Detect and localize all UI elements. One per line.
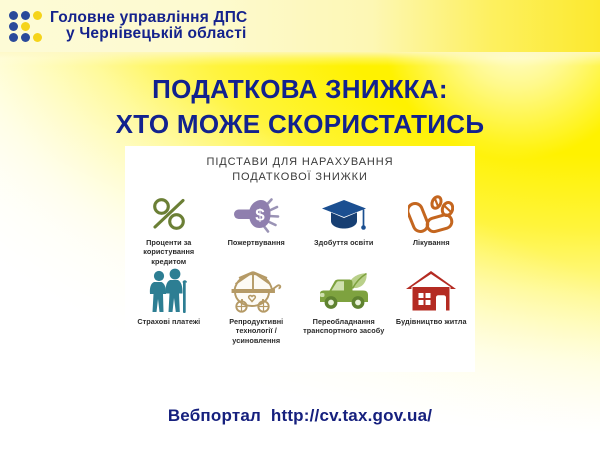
hand-money-bag-icon: $ <box>232 192 280 236</box>
infographic-label: Лікування <box>413 238 450 248</box>
baby-stroller-icon <box>229 267 283 315</box>
infographic-heading: ПІДСТАВИ ДЛЯ НАРАХУВАННЯ ПОДАТКОВОЇ ЗНИЖ… <box>207 155 394 185</box>
webportal-link[interactable]: Вебпортал http://cv.tax.gov.ua/ <box>0 406 600 426</box>
infographic-label: Здобуття освіти <box>314 238 373 248</box>
infographic-heading-line-1: ПІДСТАВИ ДЛЯ НАРАХУВАННЯ <box>207 155 394 170</box>
organization-name: Головне управління ДПС у Чернівецькій об… <box>50 10 247 42</box>
logo-dot <box>21 11 30 20</box>
dps-dots-logo-icon <box>9 10 43 42</box>
infographic-grid: Проценти за користування кредитом <box>125 192 475 346</box>
header-band-fade <box>0 52 600 66</box>
logo-dot <box>9 22 18 31</box>
infographic-item-education: Здобуття освіти <box>300 192 388 267</box>
page-title: ПОДАТКОВА ЗНИЖКА: ХТО МОЖЕ СКОРИСТАТИСЬ <box>0 72 600 141</box>
org-name-line-2: у Чернівецькій області <box>50 26 247 42</box>
org-name-line-1: Головне управління ДПС <box>50 10 247 26</box>
infographic-label: Проценти за користування кредитом <box>128 238 210 267</box>
infographic-item-treatment: Лікування <box>388 192 476 267</box>
slide-canvas: Головне управління ДПС у Чернівецькій об… <box>0 0 600 450</box>
infographic-item-vehicle-conversion: Переобладнання транспортного засобу <box>300 267 388 346</box>
eco-car-icon <box>316 267 372 315</box>
infographic-row-1: Проценти за користування кредитом <box>125 192 475 267</box>
page-title-line-2: ХТО МОЖЕ СКОРИСТАТИСЬ <box>0 107 600 142</box>
infographic-label: Репродуктивні технології / усиновлення <box>216 317 298 346</box>
infographic-label: Страхові платежі <box>137 317 200 327</box>
infographic-item-credit-interest: Проценти за користування кредитом <box>125 192 213 267</box>
infographic-item-donation: $ Пожертвування <box>213 192 301 267</box>
logo-dot <box>9 33 18 42</box>
header: Головне управління ДПС у Чернівецькій об… <box>0 0 600 52</box>
percent-sign-icon <box>149 192 189 236</box>
logo-dot <box>21 22 30 31</box>
infographic-item-insurance: Страхові платежі <box>125 267 213 346</box>
infographic-label: Переобладнання транспортного засобу <box>303 317 385 336</box>
infographic-card: ПІДСТАВИ ДЛЯ НАРАХУВАННЯ ПОДАТКОВОЇ ЗНИЖ… <box>125 146 475 372</box>
infographic-row-2: Страхові платежі <box>125 267 475 346</box>
logo-dot <box>33 22 42 31</box>
house-icon <box>405 267 457 315</box>
page-title-line-1: ПОДАТКОВА ЗНИЖКА: <box>0 72 600 107</box>
infographic-label: Будівництво житла <box>396 317 467 327</box>
graduation-cap-icon <box>321 192 367 236</box>
webportal-url[interactable]: http://cv.tax.gov.ua/ <box>271 406 432 425</box>
infographic-item-housing: Будівництво житла <box>388 267 476 346</box>
logo-dot <box>33 11 42 20</box>
infographic-item-reproductive: Репродуктивні технології / усиновлення <box>213 267 301 346</box>
pills-capsule-icon <box>408 192 454 236</box>
webportal-label: Вебпортал <box>168 406 261 425</box>
logo-dot <box>21 33 30 42</box>
elderly-couple-icon <box>145 267 193 315</box>
svg-text:$: $ <box>256 205 266 224</box>
infographic-heading-line-2: ПОДАТКОВОЇ ЗНИЖКИ <box>207 170 394 185</box>
logo-dot <box>9 11 18 20</box>
logo-dot <box>33 33 42 42</box>
infographic-label: Пожертвування <box>228 238 285 248</box>
